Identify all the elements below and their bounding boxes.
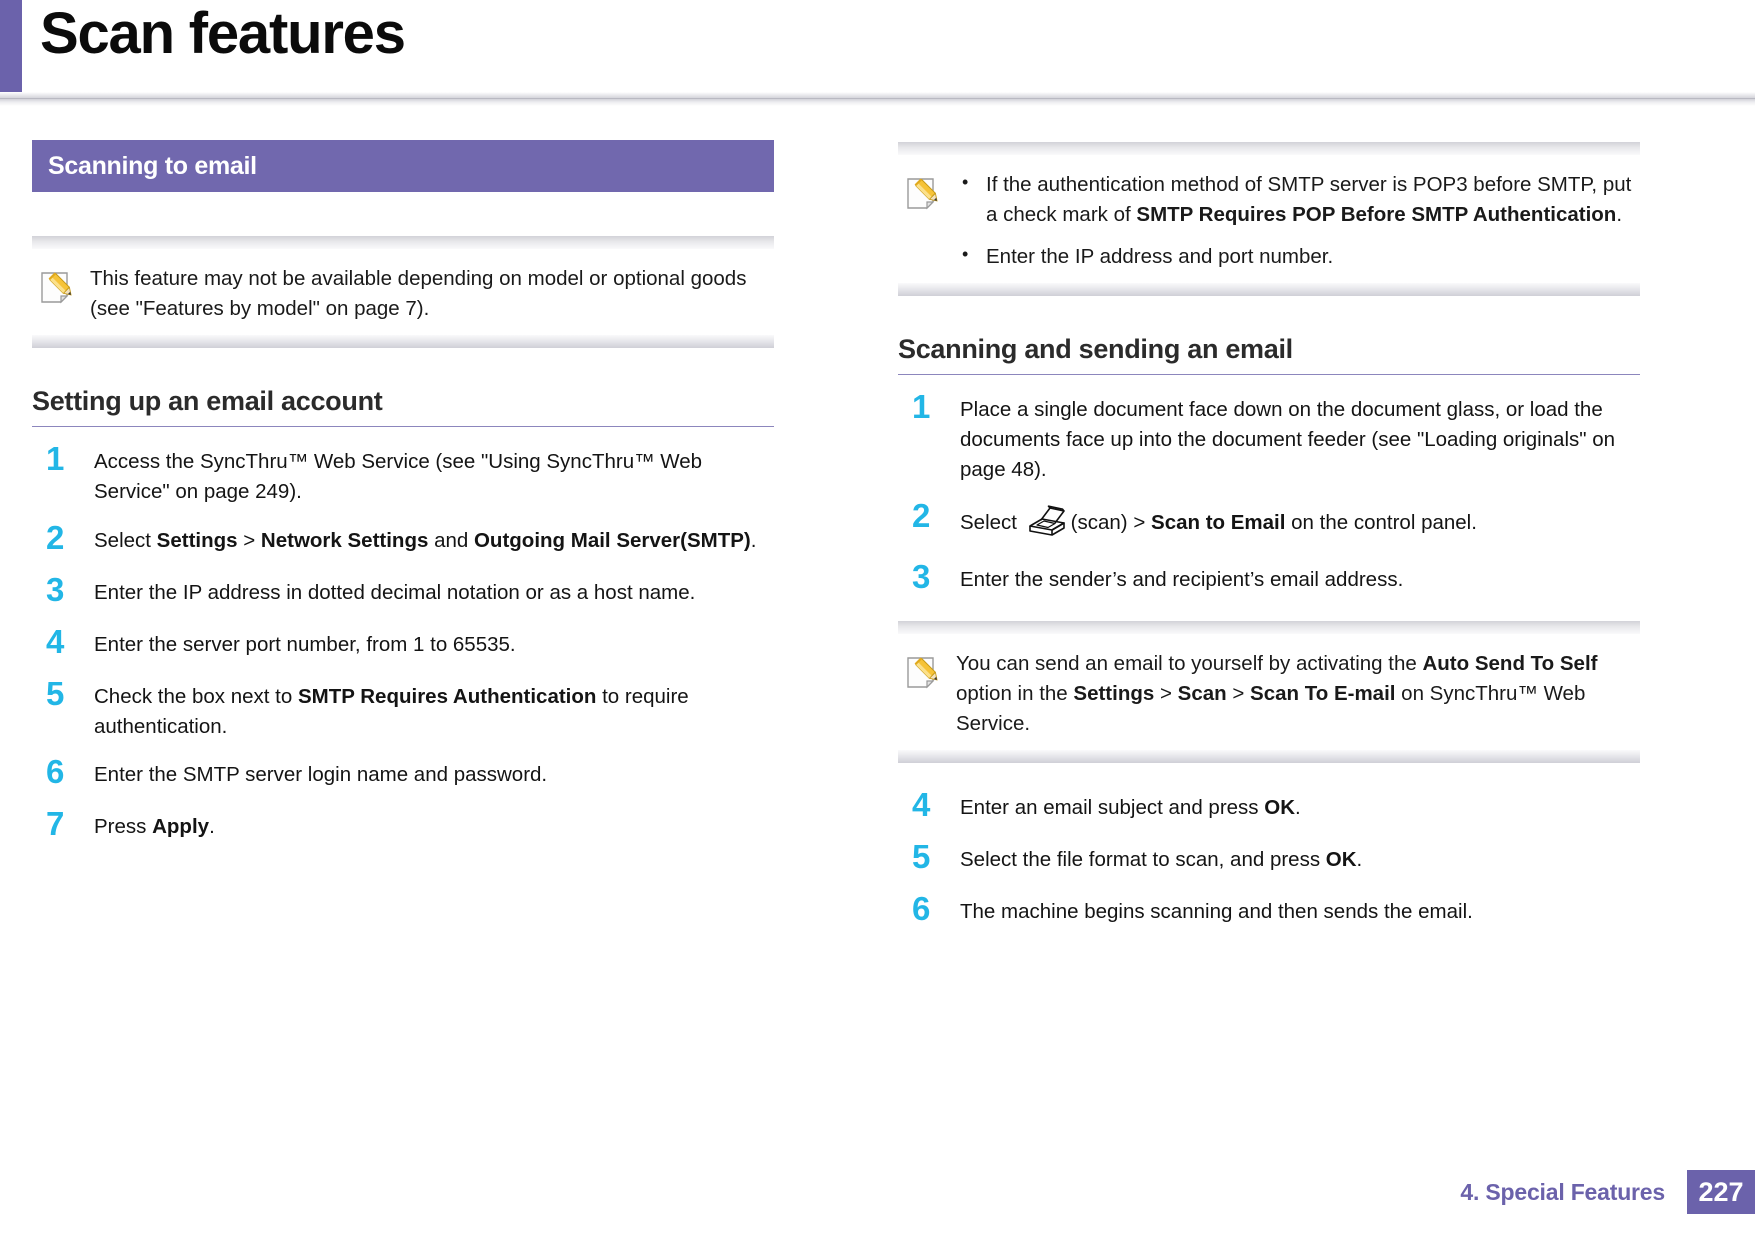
steps-scanning-and-sending-email-part1: 1 Place a single document face down on t…: [898, 395, 1640, 599]
step-number: 2: [912, 499, 930, 532]
note-callout-pop-before-smtp: If the authentication method of SMTP ser…: [898, 142, 1640, 296]
step-number: 7: [46, 807, 64, 840]
step-text: Enter the SMTP server login name and pas…: [94, 760, 774, 790]
note-text: If the authentication method of SMTP ser…: [956, 170, 1636, 272]
step-text: Enter an email subject and press OK.: [960, 793, 1640, 823]
step-text: Enter the sender’s and recipient’s email…: [960, 565, 1640, 595]
step-item: 3 Enter the sender’s and recipient’s ema…: [898, 565, 1640, 599]
step-number: 5: [46, 677, 64, 710]
scan-icon-label: (scan): [1071, 511, 1128, 534]
footer-chapter-label: 4. Special Features: [1460, 1179, 1687, 1206]
page-header: Scan features: [0, 0, 1755, 110]
section-banner-scanning-to-email: Scanning to email: [32, 140, 774, 192]
step-number: 1: [912, 390, 930, 423]
step-text: Place a single document face down on the…: [960, 395, 1640, 486]
note-text: This feature may not be available depend…: [90, 264, 770, 324]
section-banner-label: Scanning to email: [32, 152, 257, 181]
step-text: The machine begins scanning and then sen…: [960, 897, 1640, 927]
header-divider: [0, 92, 1755, 106]
scanner-icon: [1024, 504, 1070, 547]
sub-heading-scanning-and-sending-email: Scanning and sending an email: [898, 334, 1640, 375]
note-bullet-list: If the authentication method of SMTP ser…: [956, 170, 1636, 272]
note-paragraph: You can send an email to yourself by act…: [956, 649, 1636, 739]
step-number: 5: [912, 840, 930, 873]
step-text: Press Apply.: [94, 812, 774, 842]
note-pencil-icon: [902, 649, 948, 698]
step-item: 6 The machine begins scanning and then s…: [898, 897, 1640, 931]
step-number: 3: [46, 573, 64, 606]
steps-scanning-and-sending-email-part2: 4 Enter an email subject and press OK. 5…: [898, 793, 1640, 931]
step-text: Select the file format to scan, and pres…: [960, 845, 1640, 875]
right-column: If the authentication method of SMTP ser…: [898, 140, 1640, 949]
note-paragraph: This feature may not be available depend…: [90, 264, 770, 324]
step-item: 3 Enter the IP address in dotted decimal…: [32, 578, 774, 612]
step-item: 2 Select (scan) > Scan to Email on the c…: [898, 504, 1640, 547]
note-bullet-item: If the authentication method of SMTP ser…: [956, 170, 1636, 230]
note-pencil-icon: [36, 264, 82, 313]
step-text: Select Settings > Network Settings and O…: [94, 526, 774, 556]
step-number: 6: [912, 892, 930, 925]
note-callout-auto-send-to-self: You can send an email to yourself by act…: [898, 621, 1640, 763]
note-bullet-item: Enter the IP address and port number.: [956, 242, 1636, 272]
step-item: 4 Enter an email subject and press OK.: [898, 793, 1640, 827]
step-text: Select (scan) > Scan to Email on the con…: [960, 504, 1640, 547]
step-item: 1 Access the SyncThru™ Web Service (see …: [32, 447, 774, 508]
left-column: Scanning to email This feature m: [32, 140, 774, 864]
step-text: Enter the server port number, from 1 to …: [94, 630, 774, 660]
step-number: 4: [46, 625, 64, 658]
step-number: 6: [46, 755, 64, 788]
step-item: 7 Press Apply.: [32, 812, 774, 846]
step-item: 1 Place a single document face down on t…: [898, 395, 1640, 486]
note-callout-feature-availability: This feature may not be available depend…: [32, 236, 774, 348]
step-text: Enter the IP address in dotted decimal n…: [94, 578, 774, 608]
step-text: Check the box next to SMTP Requires Auth…: [94, 682, 774, 743]
step-number: 1: [46, 442, 64, 475]
page-title: Scan features: [40, 4, 405, 65]
step-item: 5 Check the box next to SMTP Requires Au…: [32, 682, 774, 743]
header-accent-bar: [0, 0, 22, 92]
step-number: 2: [46, 521, 64, 554]
footer-page-number: 227: [1687, 1170, 1755, 1214]
step-number: 4: [912, 788, 930, 821]
note-pencil-icon: [902, 170, 948, 219]
step-item: 4 Enter the server port number, from 1 t…: [32, 630, 774, 664]
page-footer: 4. Special Features 227: [1460, 1170, 1755, 1214]
step-number: 3: [912, 560, 930, 593]
step-text: Access the SyncThru™ Web Service (see "U…: [94, 447, 774, 508]
step-item: 2 Select Settings > Network Settings and…: [32, 526, 774, 560]
note-text: You can send an email to yourself by act…: [956, 649, 1636, 739]
step-item: 5 Select the file format to scan, and pr…: [898, 845, 1640, 879]
step-item: 6 Enter the SMTP server login name and p…: [32, 760, 774, 794]
steps-setting-up-email-account: 1 Access the SyncThru™ Web Service (see …: [32, 447, 774, 846]
sub-heading-setting-up-email-account: Setting up an email account: [32, 386, 774, 427]
